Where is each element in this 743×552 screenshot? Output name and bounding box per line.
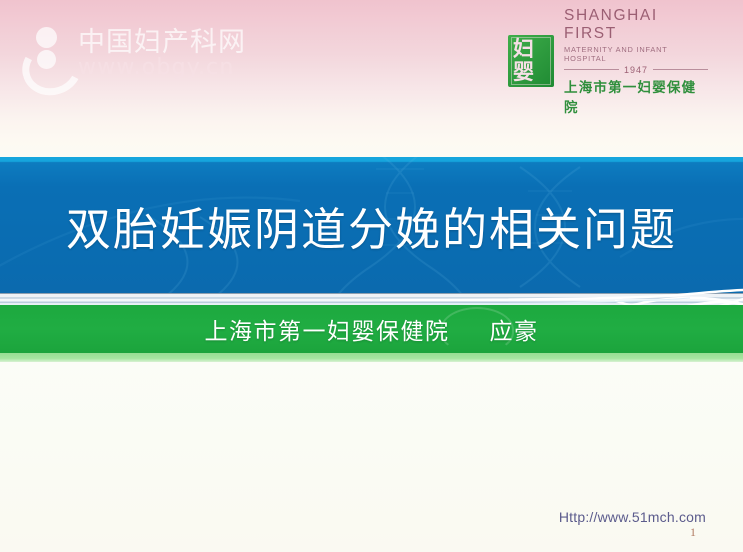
hospital-name-cn: 上海市第一妇婴保健院 — [564, 76, 708, 116]
rule-left — [564, 69, 619, 70]
slide-subtitle: 上海市第一妇婴保健院 应豪 — [0, 305, 743, 353]
hospital-name-en-secondary: MATERNITY AND INFANT HOSPITAL — [564, 45, 708, 63]
seal-glyph-top: 妇 — [513, 38, 534, 59]
hospital-founded-year: 1947 — [624, 65, 648, 75]
accent-strip — [0, 353, 743, 362]
footer-url: Http://www.51mch.com — [559, 509, 706, 525]
obgy-watermark-text: 中国妇产科网 www.obgy.cn — [78, 29, 246, 79]
hospital-logo-text: SHANGHAI FIRST MATERNITY AND INFANT HOSP… — [564, 7, 708, 116]
seal-glyph-bottom: 婴 — [513, 61, 534, 82]
hospital-founded-row: 1947 — [564, 65, 708, 75]
obgy-site-name: 中国妇产科网 — [78, 29, 246, 57]
presentation-slide: 中国妇产科网 www.obgy.cn 妇 婴 SHANGHAI FIRST MA… — [0, 0, 743, 552]
subtitle-institution: 上海市第一妇婴保健院 — [205, 312, 450, 346]
hospital-name-en-primary: SHANGHAI FIRST — [564, 7, 708, 43]
rule-right — [653, 69, 708, 70]
mother-child-logo-icon — [20, 25, 72, 83]
obgy-site-url: www.obgy.cn — [78, 57, 246, 79]
page-number: 1 — [690, 525, 696, 540]
slide-title: 双胎妊娠阴道分娩的相关问题 — [0, 157, 743, 293]
hospital-logo: 妇 婴 SHANGHAI FIRST MATERNITY AND INFANT … — [508, 30, 708, 92]
chinese-seal-icon: 妇 婴 — [508, 35, 554, 87]
subtitle-presenter: 应豪 — [490, 312, 539, 346]
logo-body-circle — [37, 50, 56, 69]
logo-head-circle — [36, 27, 57, 48]
obgy-watermark: 中国妇产科网 www.obgy.cn — [20, 22, 250, 86]
